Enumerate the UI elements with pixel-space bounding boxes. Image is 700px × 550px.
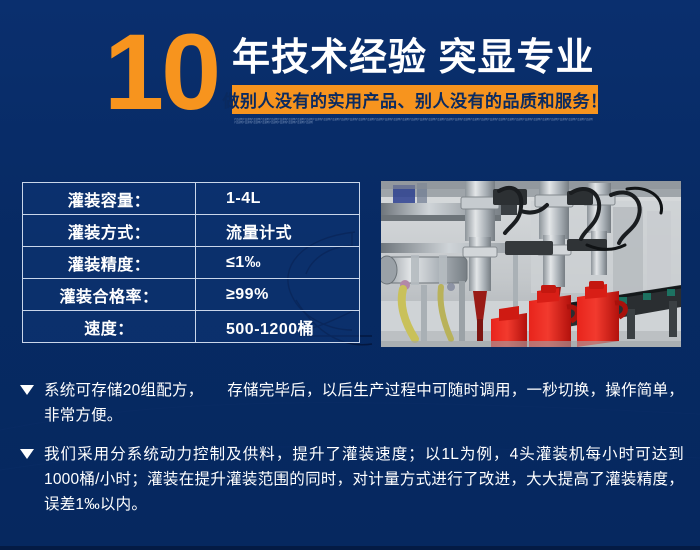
years-number: 10 <box>104 18 218 126</box>
spec-value: 500-1200桶 <box>196 311 360 343</box>
triangle-bullet-icon <box>20 385 34 395</box>
tagline-band: 做别人没有的实用产品、别人没有的品质和服务！ <box>232 85 598 114</box>
list-item: 系统可存储20组配方， 存储完毕后，以后生产过程中可随时调用，一秒切换，操作简单… <box>20 378 684 428</box>
list-item: 我们采用分系统动力控制及供料，提升了灌装速度；以1L为例，4头灌装机每小时可达到… <box>20 442 684 517</box>
filling-machine-illustration <box>381 181 681 347</box>
spec-label: 速度： <box>23 311 196 343</box>
table-row: 速度： 500-1200桶 <box>23 311 360 343</box>
spec-label: 灌装方式： <box>23 215 196 247</box>
table-row: 灌装精度： ≤1‰ <box>23 247 360 279</box>
spec-value: 流量计式 <box>196 215 360 247</box>
triangle-bullet-icon <box>20 449 34 459</box>
promo-banner: 10 年技术经验 突显专业 做别人没有的实用产品、别人没有的品质和服务！ 产品说… <box>0 0 700 550</box>
bullet-text: 我们采用分系统动力控制及供料，提升了灌装速度；以1L为例，4头灌装机每小时可达到… <box>44 442 684 517</box>
spec-label: 灌装精度： <box>23 247 196 279</box>
table-row: 灌装方式： 流量计式 <box>23 215 360 247</box>
product-photo <box>380 180 682 348</box>
spec-value: 1-4L <box>196 183 360 215</box>
spec-table: 灌装容量： 1-4L 灌装方式： 流量计式 灌装精度： ≤1‰ 灌装合格率： ≥… <box>22 182 360 343</box>
banner-header: 10 年技术经验 突显专业 做别人没有的实用产品、别人没有的品质和服务！ 产品说… <box>0 0 700 150</box>
table-row: 灌装合格率： ≥99% <box>23 279 360 311</box>
table-row: 灌装容量： 1-4L <box>23 183 360 215</box>
spec-label: 灌装容量： <box>23 183 196 215</box>
spec-value: ≤1‰ <box>196 247 360 279</box>
page-title: 年技术经验 突显专业 <box>232 36 595 80</box>
spec-label: 灌装合格率： <box>23 279 196 311</box>
tagline-text: 做别人没有的实用产品、别人没有的品质和服务！ <box>223 87 608 112</box>
feature-bullet-list: 系统可存储20组配方， 存储完毕后，以后生产过程中可随时调用，一秒切换，操作简单… <box>20 378 684 531</box>
micro-legal-text: 产品说明产品说明产品说明产品说明产品说明产品说明产品说明产品说明产品说明产品说明… <box>234 119 594 126</box>
spec-value: ≥99% <box>196 279 360 311</box>
bottom-edge-strip <box>0 546 700 550</box>
bullet-text: 系统可存储20组配方， 存储完毕后，以后生产过程中可随时调用，一秒切换，操作简单… <box>44 378 684 428</box>
